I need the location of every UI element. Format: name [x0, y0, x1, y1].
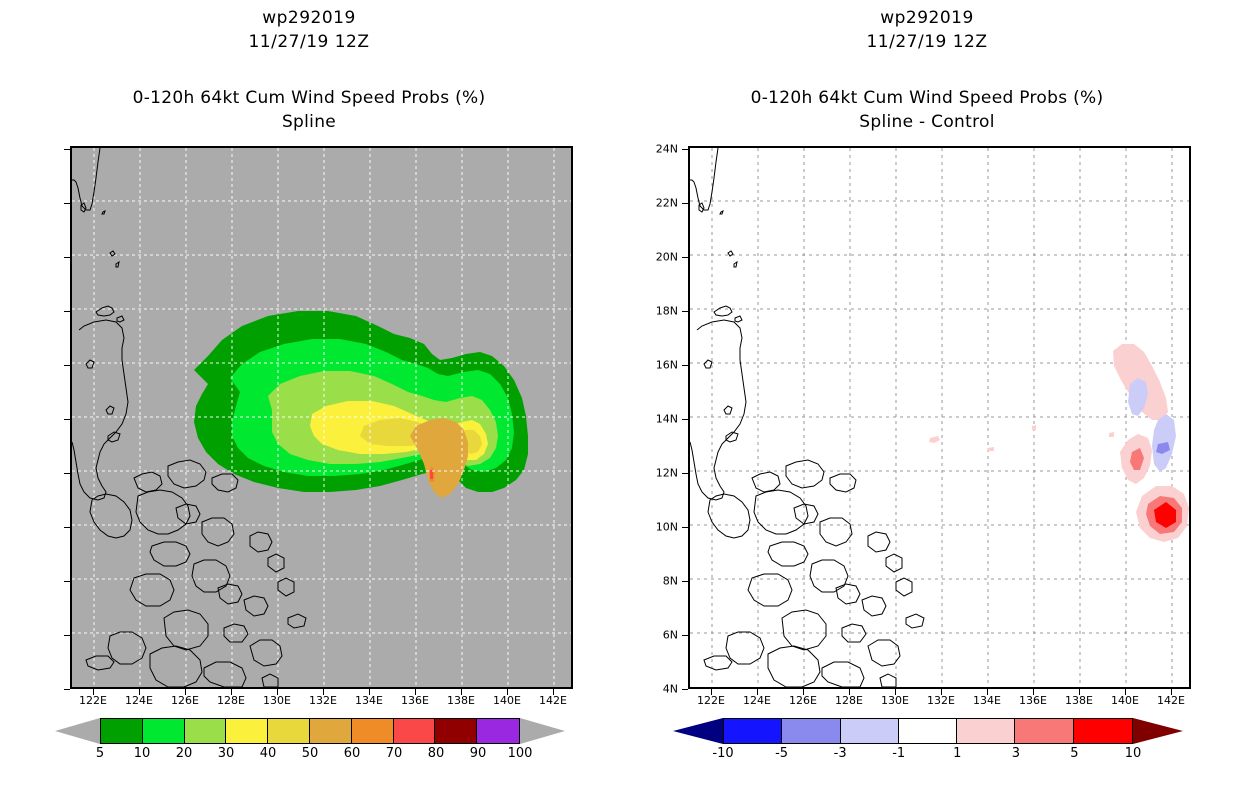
diff-speck-3 — [1032, 425, 1036, 430]
colorbar-swatch — [226, 719, 268, 743]
difference-map-svg — [690, 148, 1189, 687]
colorbar-swatch — [1015, 719, 1073, 743]
panel-spline-minus-control: wp292019 11/27/19 12Z 0-120h 64kt Cum Wi… — [618, 0, 1236, 800]
map-plot-difference[interactable] — [688, 146, 1191, 689]
colorbar-tick-label: 60 — [344, 746, 361, 761]
colorbar-tick-label: 70 — [386, 746, 403, 761]
colorbar-swatch — [143, 719, 185, 743]
colorbar-cells — [100, 718, 520, 744]
difference-contours — [929, 344, 1189, 542]
colorbar-tick-label: -5 — [775, 746, 788, 761]
chart-title-left: 0-120h 64kt Cum Wind Speed Probs (%) — [0, 88, 618, 108]
colorbar-tick-label: 90 — [470, 746, 487, 761]
difference-colorbar[interactable]: -10-5-3-113510 — [673, 718, 1183, 744]
colorbar-tick-label: 50 — [302, 746, 319, 761]
map-plot-spline[interactable] — [70, 146, 573, 689]
colorbar-tick-label: -10 — [712, 746, 733, 761]
colorbar-tick-label: 80 — [428, 746, 445, 761]
colorbar-tick-label: 1 — [953, 746, 961, 761]
colorbar-tick-label: -1 — [892, 746, 905, 761]
colorbar-swatch — [185, 719, 227, 743]
colorbar-tick-label: 5 — [1070, 746, 1078, 761]
colorbar-low-cap — [673, 718, 723, 744]
probability-colorbar[interactable]: 5102030405060708090100 — [55, 718, 565, 744]
colorbar-tick-label: 100 — [508, 746, 533, 761]
colorbar-swatch — [352, 719, 394, 743]
colorbar-swatch — [841, 719, 899, 743]
colorbar-tick-label: 5 — [96, 746, 104, 761]
colorbar-swatch — [1074, 719, 1132, 743]
colorbar-swatch — [310, 719, 352, 743]
chart-subtitle-left: Spline — [0, 112, 618, 132]
colorbar-tick-label: 20 — [176, 746, 193, 761]
colorbar-labels: -10-5-3-113510 — [673, 746, 1183, 764]
colorbar-swatch — [477, 719, 519, 743]
colorbar-swatch — [394, 719, 436, 743]
colorbar-swatch — [724, 719, 782, 743]
panel-spline: wp292019 11/27/19 12Z 0-120h 64kt Cum Wi… — [0, 0, 618, 800]
probability-contours — [194, 311, 528, 498]
storm-id-right: wp292019 — [618, 8, 1236, 28]
colorbar-labels: 5102030405060708090100 — [55, 746, 565, 764]
chart-title-right: 0-120h 64kt Cum Wind Speed Probs (%) — [618, 88, 1236, 108]
colorbar-swatch — [268, 719, 310, 743]
colorbar-tick-label: 3 — [1012, 746, 1020, 761]
colorbar-high-cap — [520, 718, 565, 744]
diff-speck-1 — [929, 436, 940, 443]
colorbar-tick-label: 40 — [260, 746, 277, 761]
colorbar-swatch — [782, 719, 840, 743]
storm-id-left: wp292019 — [0, 8, 618, 28]
datetime-right: 11/27/19 12Z — [618, 32, 1236, 52]
colorbar-swatch — [435, 719, 477, 743]
colorbar-tick-label: 10 — [1125, 746, 1142, 761]
colorbar-cells — [723, 718, 1133, 744]
colorbar-swatch — [957, 719, 1015, 743]
chart-subtitle-right: Spline - Control — [618, 112, 1236, 132]
spline-map-svg — [72, 148, 571, 687]
colorbar-swatch — [101, 719, 143, 743]
colorbar-tick-label: -3 — [834, 746, 847, 761]
colorbar-tick-label: 30 — [218, 746, 235, 761]
diff-speck-2 — [987, 447, 994, 451]
diff-speck-4 — [1109, 432, 1114, 437]
colorbar-swatch — [899, 719, 957, 743]
datetime-left: 11/27/19 12Z — [0, 32, 618, 52]
colorbar-low-cap — [55, 718, 100, 744]
colorbar-tick-label: 10 — [134, 746, 151, 761]
colorbar-high-cap — [1133, 718, 1183, 744]
